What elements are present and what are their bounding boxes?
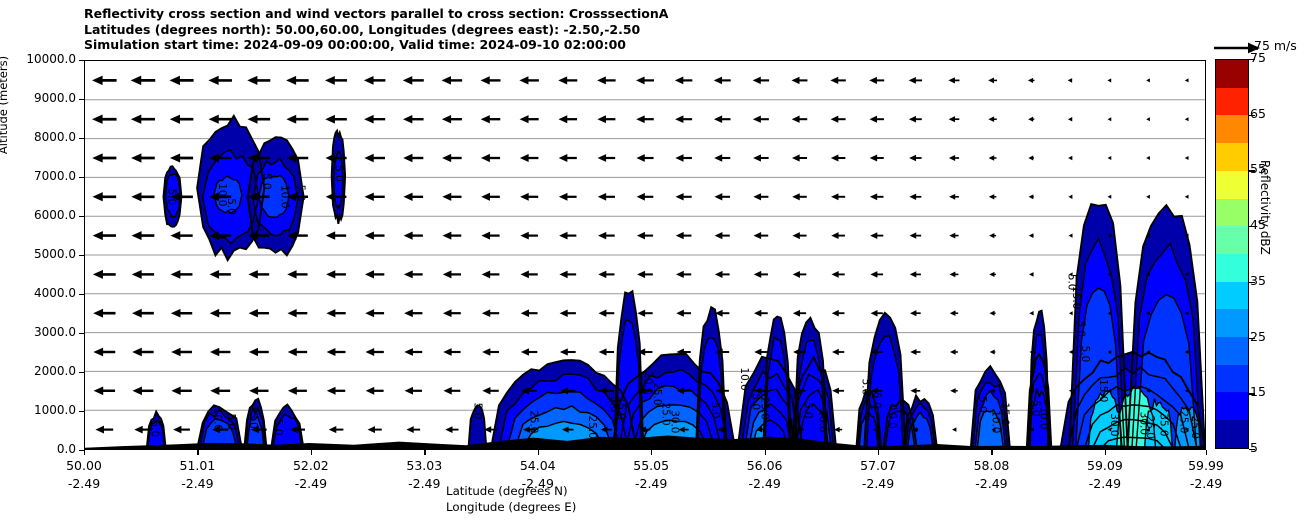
y-tick-label: 8000.0 — [0, 130, 76, 144]
colorbar-tick-label: 5 — [1250, 440, 1258, 455]
svg-text:30.0: 30.0 — [1108, 413, 1120, 436]
colorbar-band — [1216, 115, 1248, 143]
svg-text:15.0: 15.0 — [1070, 286, 1082, 309]
svg-text:10.0: 10.0 — [886, 406, 898, 429]
x-tick-label-latitude: 50.00 — [39, 458, 129, 473]
x-tick-label-longitude: -2.49 — [1060, 476, 1150, 491]
title-line-1: Reflectivity cross section and wind vect… — [84, 6, 1184, 22]
colorbar-tick-label: 65 — [1250, 106, 1266, 121]
svg-text:30.0: 30.0 — [669, 410, 681, 433]
colorbar[interactable] — [1215, 59, 1249, 449]
colorbar-tick-mark — [1249, 59, 1255, 60]
x-tick-label-latitude: 56.06 — [720, 458, 810, 473]
colorbar-tick-mark — [1249, 282, 1255, 283]
svg-text:5.0: 5.0 — [976, 396, 988, 413]
x-tick-mark — [311, 450, 312, 455]
y-tick-label: 6000.0 — [0, 208, 76, 222]
svg-text:5.0: 5.0 — [709, 402, 721, 419]
colorbar-tick-label: 15 — [1250, 384, 1266, 399]
x-tick-label-longitude: -2.49 — [833, 476, 923, 491]
y-tick-label: 0.0 — [0, 442, 76, 456]
y-tick-label: 3000.0 — [0, 325, 76, 339]
svg-text:5.0: 5.0 — [225, 198, 237, 215]
colorbar-band — [1216, 254, 1248, 282]
svg-text:5.0: 5.0 — [1079, 346, 1091, 363]
y-tick-label: 7000.0 — [0, 169, 76, 183]
colorbar-tick-mark — [1249, 226, 1255, 227]
x-tick-label-latitude: 51.01 — [152, 458, 242, 473]
x-tick-label-longitude: -2.49 — [606, 476, 696, 491]
svg-text:25.0: 25.0 — [586, 416, 598, 439]
svg-text:5.0: 5.0 — [802, 402, 814, 419]
x-axis-title-latitude: Latitude (degrees N) — [446, 484, 568, 498]
plot-canvas: 5.010.05.05.010.05.05.05.010.05.015.05.0… — [85, 61, 1205, 449]
x-tick-label-longitude: -2.49 — [1161, 476, 1251, 491]
x-tick-label-longitude: -2.49 — [720, 476, 810, 491]
svg-text:5.0: 5.0 — [225, 414, 237, 431]
svg-text:10.0: 10.0 — [738, 368, 750, 391]
x-tick-mark — [197, 450, 198, 455]
x-tick-label-latitude: 54.04 — [493, 458, 583, 473]
svg-text:25.0: 25.0 — [758, 397, 770, 420]
colorbar-band — [1216, 365, 1248, 393]
title-line-2: Latitudes (degrees north): 50.00,60.00, … — [84, 22, 1184, 38]
colorbar-tick-mark — [1249, 338, 1255, 339]
x-tick-label-latitude: 59.99 — [1161, 458, 1251, 473]
svg-text:5.0: 5.0 — [1075, 320, 1087, 337]
x-tick-label-longitude: -2.49 — [946, 476, 1036, 491]
x-tick-mark — [991, 450, 992, 455]
colorbar-tick-mark — [1249, 115, 1255, 116]
y-tick-label: 4000.0 — [0, 286, 76, 300]
svg-text:15.0: 15.0 — [615, 397, 627, 420]
svg-text:35.0: 35.0 — [1158, 413, 1170, 436]
svg-text:15.0: 15.0 — [247, 406, 259, 429]
x-tick-mark — [538, 450, 539, 455]
colorbar-title: Reflectivity dBZ — [1258, 160, 1272, 350]
colorbar-band — [1216, 143, 1248, 171]
y-tick-label: 1000.0 — [0, 403, 76, 417]
x-tick-mark — [878, 450, 879, 455]
svg-text:15.0: 15.0 — [1097, 379, 1109, 402]
x-tick-mark — [651, 450, 652, 455]
title-line-3: Simulation start time: 2024-09-09 00:00:… — [84, 37, 1184, 53]
colorbar-band — [1216, 88, 1248, 116]
colorbar-band — [1216, 199, 1248, 227]
chart-title-block: Reflectivity cross section and wind vect… — [84, 6, 1184, 53]
cross-section-plot[interactable]: 5.010.05.05.010.05.05.05.010.05.015.05.0… — [84, 60, 1206, 450]
x-tick-label-latitude: 57.07 — [833, 458, 923, 473]
y-axis-title: Altitude (meters) — [0, 25, 10, 185]
svg-text:10.0: 10.0 — [817, 409, 829, 432]
colorbar-band — [1216, 60, 1248, 88]
y-tick-label: 9000.0 — [0, 91, 76, 105]
y-tick-label: 10000.0 — [0, 52, 76, 66]
x-tick-label-latitude: 55.05 — [606, 458, 696, 473]
x-tick-mark — [1206, 450, 1207, 455]
svg-text:5.0: 5.0 — [471, 403, 483, 420]
svg-text:15.0: 15.0 — [998, 402, 1010, 425]
colorbar-band — [1216, 420, 1248, 448]
svg-text:5.0: 5.0 — [332, 165, 344, 182]
x-tick-label-latitude: 52.02 — [266, 458, 356, 473]
colorbar-band — [1216, 309, 1248, 337]
svg-text:25.0: 25.0 — [1144, 416, 1156, 439]
x-tick-label-latitude: 59.09 — [1060, 458, 1150, 473]
colorbar-tick-mark — [1249, 393, 1255, 394]
colorbar-band — [1216, 392, 1248, 420]
x-tick-label-longitude: -2.49 — [266, 476, 356, 491]
svg-text:5.0: 5.0 — [859, 379, 871, 396]
x-tick-mark — [424, 450, 425, 455]
y-tick-label: 5000.0 — [0, 247, 76, 261]
x-tick-label-latitude: 58.08 — [946, 458, 1036, 473]
reference-vector-label: 75 m/s — [1254, 38, 1297, 53]
svg-text:25.0: 25.0 — [1189, 416, 1201, 439]
x-tick-mark — [1105, 450, 1106, 455]
colorbar-band — [1216, 171, 1248, 199]
x-axis-title-longitude: Longitude (degrees E) — [446, 500, 576, 514]
colorbar-band — [1216, 282, 1248, 310]
svg-text:5.0: 5.0 — [272, 419, 284, 436]
svg-text:10.0: 10.0 — [1038, 406, 1050, 429]
colorbar-band — [1216, 337, 1248, 365]
x-tick-label-latitude: 53.03 — [379, 458, 469, 473]
x-tick-mark — [765, 450, 766, 455]
svg-text:5.0: 5.0 — [871, 392, 883, 409]
y-tick-label: 2000.0 — [0, 364, 76, 378]
colorbar-band — [1216, 226, 1248, 254]
colorbar-tick-mark — [1249, 449, 1255, 450]
svg-text:5.0: 5.0 — [261, 173, 273, 190]
x-tick-mark — [84, 450, 85, 455]
svg-text:5.0: 5.0 — [785, 417, 797, 434]
colorbar-tick-mark — [1249, 170, 1255, 171]
x-tick-label-longitude: -2.49 — [39, 476, 129, 491]
x-tick-label-longitude: -2.49 — [152, 476, 242, 491]
